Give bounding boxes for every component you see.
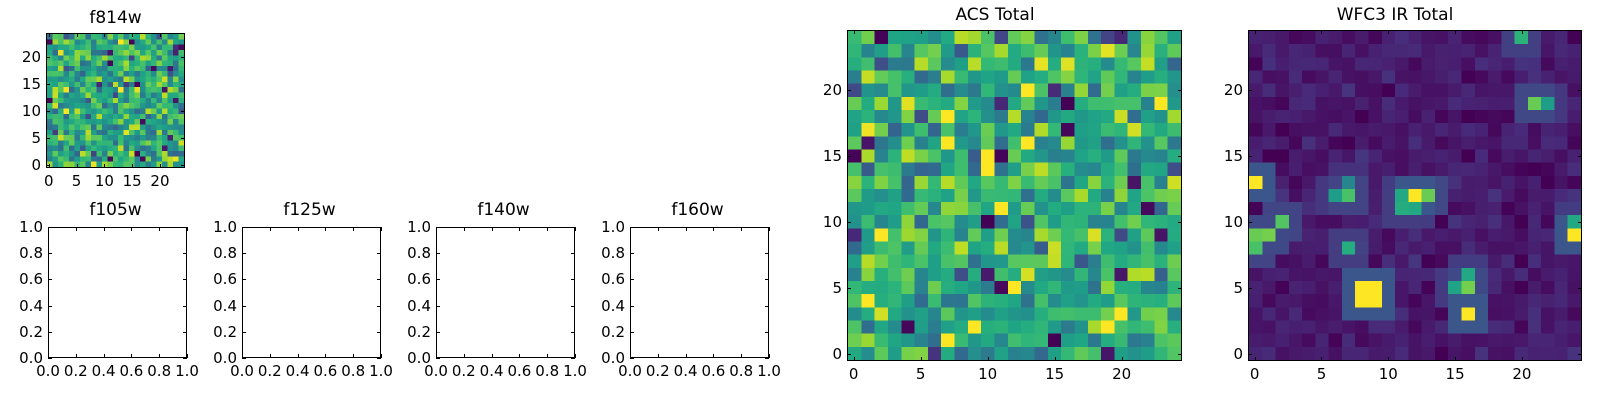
x-tick-mark-top	[464, 227, 465, 231]
x-tick-label: 15	[1446, 366, 1465, 382]
x-tick-mark	[381, 354, 382, 358]
x-tick-mark-top	[76, 227, 77, 231]
y-tick-label: 0.8	[388, 245, 431, 261]
y-tick-label: 0.2	[0, 324, 43, 340]
x-tick-label: 20	[1512, 366, 1531, 382]
x-tick-mark	[325, 354, 326, 358]
y-tick-label: 15	[0, 76, 41, 92]
x-tick-mark	[298, 354, 299, 358]
x-tick-mark	[519, 354, 520, 358]
y-tick-label: 20	[0, 49, 41, 65]
x-tick-mark-top	[159, 227, 160, 231]
y-tick-mark	[48, 227, 52, 228]
x-tick-mark-top	[1055, 30, 1056, 34]
y-tick-mark-right	[765, 227, 769, 228]
x-tick-label: 0	[849, 366, 859, 382]
x-tick-label: 0	[1250, 366, 1260, 382]
y-tick-mark	[46, 165, 50, 166]
x-tick-mark	[76, 354, 77, 358]
y-tick-label: 5	[1200, 280, 1243, 296]
x-tick-label: 0.2	[258, 363, 282, 379]
x-tick-mark-top	[131, 227, 132, 231]
x-tick-mark-top	[132, 33, 133, 37]
y-tick-label: 15	[799, 148, 842, 164]
panel-wfc3-ir-total: WFC3 IR Total 0510152005101520	[1200, 0, 1600, 400]
x-tick-mark-top	[187, 227, 188, 231]
x-tick-mark	[686, 354, 687, 358]
y-tick-label: 0.4	[582, 298, 625, 314]
y-tick-label: 1.0	[388, 219, 431, 235]
y-tick-label: 0.6	[388, 271, 431, 287]
y-tick-mark	[630, 227, 634, 228]
panel-title-wfc3-ir-total: WFC3 IR Total	[1200, 5, 1590, 25]
x-tick-label: 1.0	[757, 363, 781, 379]
x-tick-mark	[854, 357, 855, 361]
y-tick-label: 0	[0, 157, 41, 173]
y-tick-mark	[242, 279, 246, 280]
x-tick-mark-top	[547, 227, 548, 231]
axes-f125w	[242, 227, 381, 358]
y-tick-mark-right	[1178, 354, 1182, 355]
y-tick-mark-right	[181, 57, 185, 58]
y-tick-mark	[436, 332, 440, 333]
axes-f105w	[48, 227, 187, 358]
y-tick-label: 0.4	[0, 298, 43, 314]
x-tick-mark-top	[769, 227, 770, 231]
x-tick-mark	[131, 354, 132, 358]
y-tick-mark	[48, 279, 52, 280]
x-tick-mark	[1522, 357, 1523, 361]
axes-acs-total	[847, 30, 1182, 361]
y-tick-mark-right	[765, 306, 769, 307]
x-tick-mark	[713, 354, 714, 358]
y-tick-label: 0.8	[194, 245, 237, 261]
y-tick-mark-right	[377, 306, 381, 307]
y-tick-mark-right	[571, 279, 575, 280]
axes-f814w	[46, 33, 185, 168]
y-tick-mark	[630, 279, 634, 280]
axes-f160w	[630, 227, 769, 358]
x-tick-mark	[575, 354, 576, 358]
panel-f160w: f160w 0.00.20.40.60.81.00.00.20.40.60.81…	[582, 190, 813, 400]
y-tick-mark-right	[571, 358, 575, 359]
x-tick-mark-top	[381, 227, 382, 231]
x-tick-mark	[921, 357, 922, 361]
y-tick-mark-right	[1178, 156, 1182, 157]
y-tick-mark-right	[183, 253, 187, 254]
y-tick-label: 15	[1200, 148, 1243, 164]
y-tick-mark	[242, 358, 246, 359]
x-tick-mark-top	[1321, 30, 1322, 34]
x-tick-label: 0.2	[646, 363, 670, 379]
x-tick-mark-top	[77, 33, 78, 37]
y-tick-label: 0	[799, 346, 842, 362]
y-tick-mark	[48, 358, 52, 359]
x-tick-mark	[132, 164, 133, 168]
x-tick-label: 5	[72, 173, 82, 189]
x-tick-mark-top	[575, 227, 576, 231]
x-tick-mark	[77, 164, 78, 168]
y-tick-mark	[630, 358, 634, 359]
y-tick-label: 10	[0, 103, 41, 119]
x-tick-label: 0.8	[729, 363, 753, 379]
x-tick-label: 15	[1045, 366, 1064, 382]
y-tick-mark	[847, 156, 851, 157]
x-tick-mark-top	[1388, 30, 1389, 34]
y-tick-mark-right	[181, 84, 185, 85]
x-tick-mark-top	[1522, 30, 1523, 34]
x-tick-label: 15	[123, 173, 142, 189]
x-tick-mark-top	[1122, 30, 1123, 34]
y-tick-label: 0.8	[0, 245, 43, 261]
y-tick-label: 0.4	[194, 298, 237, 314]
y-tick-mark-right	[377, 227, 381, 228]
y-tick-mark-right	[1178, 222, 1182, 223]
x-tick-mark	[1255, 357, 1256, 361]
y-tick-mark-right	[1578, 354, 1582, 355]
y-tick-mark	[630, 306, 634, 307]
x-tick-label: 10	[978, 366, 997, 382]
y-tick-mark-right	[377, 358, 381, 359]
y-tick-label: 0.8	[582, 245, 625, 261]
y-tick-mark	[46, 138, 50, 139]
y-tick-label: 10	[1200, 214, 1243, 230]
y-tick-label: 0.0	[388, 350, 431, 366]
x-tick-label: 0.8	[341, 363, 365, 379]
x-tick-label: 0.4	[286, 363, 310, 379]
y-tick-mark	[436, 358, 440, 359]
x-tick-label: 0.2	[452, 363, 476, 379]
x-tick-mark	[988, 357, 989, 361]
x-tick-label: 0.2	[64, 363, 88, 379]
y-tick-label: 5	[0, 130, 41, 146]
y-tick-label: 1.0	[0, 219, 43, 235]
x-tick-label: 0.4	[92, 363, 116, 379]
y-tick-mark	[436, 227, 440, 228]
y-tick-mark	[46, 57, 50, 58]
y-tick-mark	[242, 306, 246, 307]
y-tick-label: 20	[799, 82, 842, 98]
y-tick-mark-right	[571, 306, 575, 307]
y-tick-mark	[847, 222, 851, 223]
y-tick-mark	[1248, 156, 1252, 157]
x-tick-mark	[1321, 357, 1322, 361]
y-tick-mark	[847, 354, 851, 355]
y-tick-mark-right	[377, 332, 381, 333]
y-tick-mark-right	[181, 111, 185, 112]
y-tick-mark-right	[1578, 90, 1582, 91]
x-tick-mark-top	[658, 227, 659, 231]
x-tick-mark-top	[921, 30, 922, 34]
x-tick-mark	[104, 354, 105, 358]
panel-title-f160w: f160w	[582, 200, 813, 220]
y-tick-label: 0.0	[194, 350, 237, 366]
y-tick-mark-right	[377, 253, 381, 254]
x-tick-mark	[353, 354, 354, 358]
x-tick-mark-top	[492, 227, 493, 231]
x-tick-mark-top	[104, 33, 105, 37]
y-tick-mark	[1248, 288, 1252, 289]
y-tick-mark-right	[183, 358, 187, 359]
y-tick-mark-right	[183, 227, 187, 228]
x-tick-mark	[741, 354, 742, 358]
x-tick-mark-top	[104, 227, 105, 231]
heatmap-wfc3-ir-total	[1249, 31, 1581, 360]
y-tick-mark-right	[1578, 222, 1582, 223]
x-tick-mark	[658, 354, 659, 358]
y-tick-mark	[242, 227, 246, 228]
x-tick-mark	[1455, 357, 1456, 361]
y-tick-mark-right	[1578, 156, 1582, 157]
y-tick-label: 1.0	[582, 219, 625, 235]
x-tick-label: 0.6	[313, 363, 337, 379]
x-tick-label: 5	[1317, 366, 1327, 382]
y-tick-mark-right	[181, 138, 185, 139]
y-tick-mark-right	[183, 306, 187, 307]
y-tick-mark	[1248, 354, 1252, 355]
y-tick-label: 0.0	[582, 350, 625, 366]
y-tick-mark-right	[181, 165, 185, 166]
y-tick-label: 0.2	[582, 324, 625, 340]
x-tick-label: 0	[44, 173, 54, 189]
panel-title-f814w: f814w	[0, 8, 231, 28]
matplotlib-figure: f814w 0510152005101520 f105w 0.00.20.40.…	[0, 0, 1600, 400]
heatmap-f814w	[47, 34, 184, 167]
y-tick-mark	[48, 332, 52, 333]
y-tick-mark	[436, 306, 440, 307]
x-tick-mark	[270, 354, 271, 358]
y-tick-mark-right	[765, 332, 769, 333]
y-tick-label: 1.0	[194, 219, 237, 235]
y-tick-mark	[46, 111, 50, 112]
x-tick-mark	[104, 164, 105, 168]
x-tick-mark	[492, 354, 493, 358]
y-tick-mark	[436, 253, 440, 254]
x-tick-mark	[1055, 357, 1056, 361]
x-tick-label: 10	[95, 173, 114, 189]
x-tick-label: 0.6	[507, 363, 531, 379]
panel-acs-total: ACS Total 0510152005101520	[800, 0, 1200, 400]
y-tick-mark-right	[571, 332, 575, 333]
y-tick-mark-right	[571, 227, 575, 228]
x-tick-label: 10	[1379, 366, 1398, 382]
x-tick-mark-top	[741, 227, 742, 231]
x-tick-mark-top	[298, 227, 299, 231]
y-tick-mark-right	[183, 279, 187, 280]
x-tick-label: 0.8	[147, 363, 171, 379]
axes-f140w	[436, 227, 575, 358]
x-tick-mark	[159, 354, 160, 358]
x-tick-label: 0.4	[674, 363, 698, 379]
y-tick-mark	[630, 332, 634, 333]
x-tick-label: 20	[1112, 366, 1131, 382]
y-tick-mark-right	[377, 279, 381, 280]
x-tick-mark-top	[270, 227, 271, 231]
x-tick-label: 0.6	[119, 363, 143, 379]
y-tick-label: 5	[799, 280, 842, 296]
x-tick-mark-top	[353, 227, 354, 231]
y-tick-label: 0.0	[0, 350, 43, 366]
y-tick-mark-right	[1578, 288, 1582, 289]
x-tick-mark-top	[1455, 30, 1456, 34]
y-tick-mark	[847, 90, 851, 91]
x-tick-mark	[769, 354, 770, 358]
x-tick-mark-top	[988, 30, 989, 34]
y-tick-mark	[1248, 222, 1252, 223]
x-tick-mark	[160, 164, 161, 168]
x-tick-mark-top	[686, 227, 687, 231]
x-tick-label: 0.8	[535, 363, 559, 379]
y-tick-mark-right	[183, 332, 187, 333]
x-tick-mark	[464, 354, 465, 358]
y-tick-mark-right	[765, 279, 769, 280]
y-tick-mark	[46, 84, 50, 85]
y-tick-label: 0.6	[194, 271, 237, 287]
y-tick-mark-right	[1178, 90, 1182, 91]
x-tick-label: 0.6	[701, 363, 725, 379]
x-tick-mark-top	[325, 227, 326, 231]
y-tick-mark	[48, 253, 52, 254]
axes-wfc3-ir-total	[1248, 30, 1582, 361]
y-tick-label: 0.2	[388, 324, 431, 340]
x-tick-mark	[1122, 357, 1123, 361]
y-tick-mark	[242, 253, 246, 254]
y-tick-mark	[1248, 90, 1252, 91]
y-tick-label: 0.6	[0, 271, 43, 287]
x-tick-label: 5	[916, 366, 926, 382]
heatmap-acs-total	[848, 31, 1181, 360]
x-tick-mark	[1388, 357, 1389, 361]
panel-title-acs-total: ACS Total	[800, 5, 1190, 25]
x-tick-mark-top	[49, 33, 50, 37]
y-tick-mark-right	[765, 358, 769, 359]
x-tick-mark-top	[1255, 30, 1256, 34]
y-tick-label: 0	[1200, 346, 1243, 362]
x-tick-label: 20	[150, 173, 169, 189]
y-tick-mark-right	[1178, 288, 1182, 289]
x-tick-mark	[547, 354, 548, 358]
y-tick-mark	[242, 332, 246, 333]
x-tick-mark-top	[713, 227, 714, 231]
y-tick-mark	[630, 253, 634, 254]
y-tick-label: 0.6	[582, 271, 625, 287]
x-tick-mark-top	[160, 33, 161, 37]
y-tick-mark	[436, 279, 440, 280]
x-tick-mark-top	[519, 227, 520, 231]
x-tick-label: 0.4	[480, 363, 504, 379]
y-tick-label: 10	[799, 214, 842, 230]
y-tick-mark	[48, 306, 52, 307]
x-tick-mark	[187, 354, 188, 358]
y-tick-label: 0.2	[194, 324, 237, 340]
y-tick-mark-right	[765, 253, 769, 254]
y-tick-mark-right	[571, 253, 575, 254]
y-tick-label: 20	[1200, 82, 1243, 98]
panel-f814w: f814w 0510152005101520	[0, 0, 231, 190]
y-tick-mark	[847, 288, 851, 289]
x-tick-mark-top	[854, 30, 855, 34]
y-tick-label: 0.4	[388, 298, 431, 314]
